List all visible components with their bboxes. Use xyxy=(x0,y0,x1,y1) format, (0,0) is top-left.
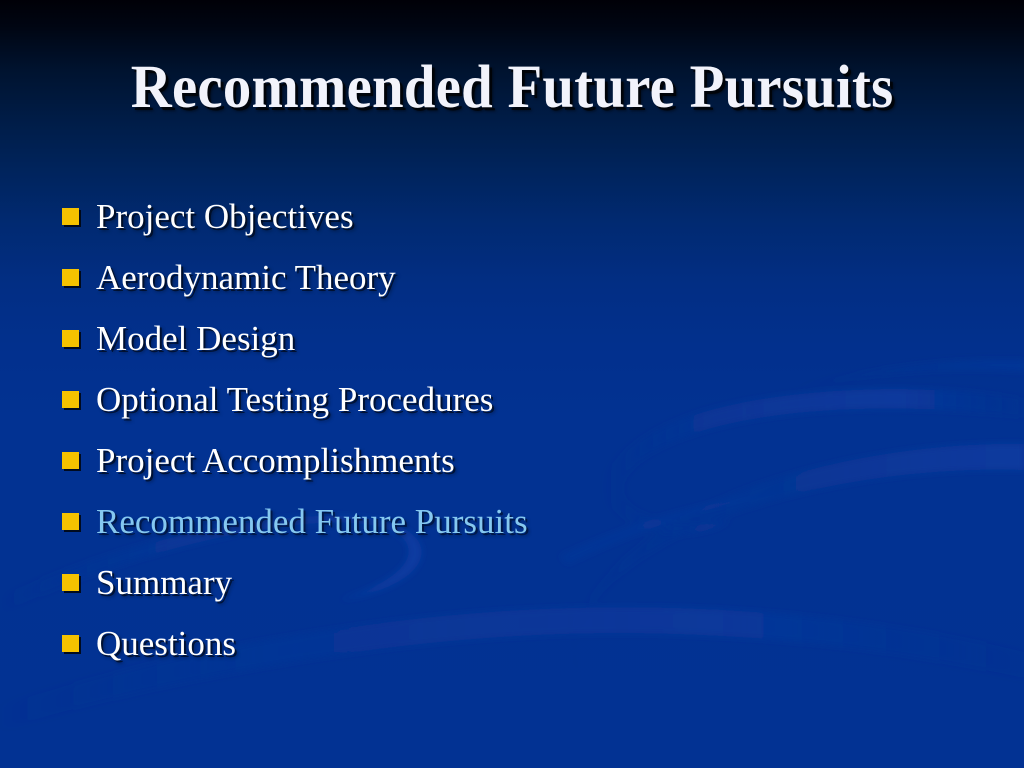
square-bullet-icon xyxy=(62,391,79,408)
list-item-label: Questions xyxy=(96,626,962,661)
list-item-current-section[interactable]: Recommended Future Pursuits xyxy=(62,491,962,552)
square-bullet-icon xyxy=(62,513,79,530)
list-item-label: Model Design xyxy=(96,321,962,356)
agenda-bullet-list: Project Objectives Aerodynamic Theory Mo… xyxy=(62,186,962,674)
list-item[interactable]: Project Objectives xyxy=(62,186,962,247)
presentation-slide: Recommended Future Pursuits Project Obje… xyxy=(0,0,1024,768)
list-item[interactable]: Questions xyxy=(62,613,962,674)
list-item-label: Project Accomplishments xyxy=(96,443,962,478)
square-bullet-icon xyxy=(62,635,79,652)
square-bullet-icon xyxy=(62,208,79,225)
list-item[interactable]: Aerodynamic Theory xyxy=(62,247,962,308)
list-item-label: Project Objectives xyxy=(96,199,962,234)
square-bullet-icon xyxy=(62,269,79,286)
list-item-label: Recommended Future Pursuits xyxy=(96,504,962,539)
list-item[interactable]: Optional Testing Procedures xyxy=(62,369,962,430)
square-bullet-icon xyxy=(62,574,79,591)
title-area: Recommended Future Pursuits xyxy=(0,56,1024,119)
list-item-label: Optional Testing Procedures xyxy=(96,382,962,417)
list-item-label: Aerodynamic Theory xyxy=(96,260,962,295)
list-item[interactable]: Project Accomplishments xyxy=(62,430,962,491)
square-bullet-icon xyxy=(62,452,79,469)
page-title: Recommended Future Pursuits xyxy=(131,56,894,119)
list-item[interactable]: Summary xyxy=(62,552,962,613)
square-bullet-icon xyxy=(62,330,79,347)
list-item[interactable]: Model Design xyxy=(62,308,962,369)
list-item-label: Summary xyxy=(96,565,962,600)
